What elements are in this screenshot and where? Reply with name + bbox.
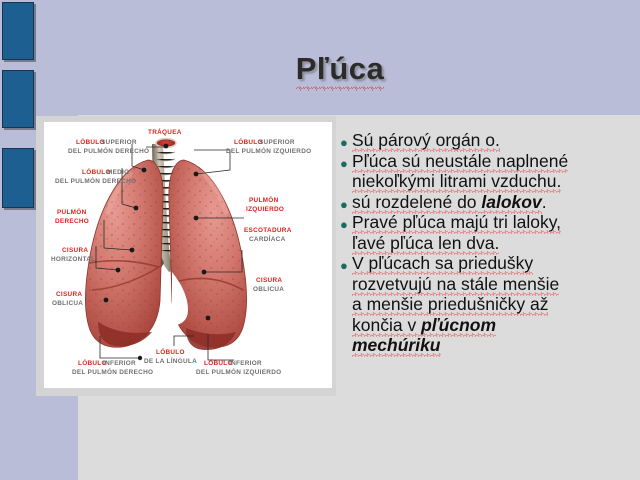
label-lobulo-medio-2: MEDIO	[107, 169, 129, 176]
slide-canvas: Pľúca	[0, 0, 640, 480]
label-lobulo-inf-izq-3: DEL PULMÓN IZQUIERDO	[196, 367, 281, 376]
slide-title-text: Pľúca	[296, 51, 385, 86]
lungs-illustration-svg: TRÁQUEA LÓBULO SUPERIOR DEL PULMÓN DEREC…	[44, 122, 332, 388]
label-lobulo-medio-3: DEL PULMÓN DERECHO	[55, 176, 136, 185]
bullet-dot-icon: ●	[340, 201, 352, 209]
list-item[interactable]: ● Sú párový orgán o.	[340, 130, 636, 151]
label-lobulo-lingula: LÓBULO	[156, 347, 185, 356]
label-cisura-oblicua-left: CISURA	[56, 291, 82, 298]
bullet-line: Sú párový orgán o.	[352, 130, 500, 152]
page-title: Pľúca	[296, 50, 385, 88]
slide-title-container: Pľúca	[190, 50, 490, 94]
bullet-text-2: Pľúca sú neustále naplnené niekoľkými li…	[352, 151, 636, 192]
label-pulmon-izquierdo: PULMÓN	[249, 195, 279, 204]
bullet-line: .	[542, 192, 547, 212]
label-traquea: TRÁQUEA	[148, 127, 182, 136]
bullet-dot-icon: ●	[340, 160, 352, 168]
bullet-line: niekoľkými litrami vzduchu.	[352, 171, 561, 193]
content-bullet-list: ● Sú párový orgán o. ● Pľúca sú neustále…	[340, 130, 636, 356]
label-lobulo-sup-der-3: DEL PULMÓN DERECHO	[68, 146, 149, 155]
list-item[interactable]: ● sú rozdelené do lalokov.	[340, 192, 636, 213]
bullet-dot-icon: ●	[340, 221, 352, 229]
label-lobulo-inf-izq-2: INFERIOR	[229, 360, 262, 367]
label-pulmon-izquierdo-2: IZQUIERDO	[246, 206, 284, 213]
bullet-emphasis: lalokov	[481, 192, 541, 214]
list-item[interactable]: ● Pľúca sú neustále naplnené niekoľkými …	[340, 151, 636, 192]
lungs-diagram-image: TRÁQUEA LÓBULO SUPERIOR DEL PULMÓN DEREC…	[44, 122, 332, 388]
label-escotadura-2: CARDÍACA	[249, 234, 286, 243]
label-cisura-horizontal: CISURA	[62, 247, 88, 254]
label-pulmon-derecho-2: DERECHO	[55, 218, 89, 225]
label-cisura-horizontal-2: HORIZONTAL	[51, 256, 95, 263]
bullet-line: sú rozdelené do	[352, 192, 481, 214]
label-lobulo-sup-izq-2: SUPERIOR	[259, 139, 295, 146]
left-accent-box-2	[2, 70, 34, 128]
bullet-text-5: V pľúcach sa priedušky rozvetvujú na stá…	[352, 253, 636, 356]
label-cisura-oblicua-right-2: OBLICUA	[253, 286, 284, 293]
bullet-emphasis: pľúcnom	[421, 315, 496, 337]
label-lobulo-inf-der-2: INFERIOR	[103, 360, 136, 367]
label-lobulo-inf-der-3: DEL PULMÓN DERECHO	[72, 367, 153, 376]
bullet-dot-icon: ●	[340, 262, 352, 270]
label-cisura-oblicua-left-2: OBLICUA	[52, 300, 83, 307]
label-lobulo-lingula-2: DE LA LÍNGULA	[144, 356, 197, 365]
spellcheck-underline-icon	[296, 86, 385, 91]
bullet-line: Pravé pľúca majú tri laloky,	[352, 212, 561, 234]
list-item[interactable]: ● Pravé pľúca majú tri laloky, ľavé pľúc…	[340, 212, 636, 253]
bullet-dot-icon: ●	[340, 139, 352, 147]
label-pulmon-derecho: PULMÓN	[57, 207, 87, 216]
left-accent-box-1	[2, 2, 34, 60]
list-item[interactable]: ● V pľúcach sa priedušky rozvetvujú na s…	[340, 253, 636, 356]
bullet-line: rozvetvujú na stále menšie	[352, 274, 559, 296]
left-accent-box-3	[2, 148, 34, 208]
bullet-line: ľavé pľúca len dva.	[352, 233, 499, 255]
label-cisura-oblicua-right: CISURA	[256, 277, 282, 284]
label-lobulo-sup-izq-3: DEL PULMÓN IZQUIERDO	[226, 146, 311, 155]
bullet-line: a menšie priedušničky až	[352, 294, 548, 316]
label-lobulo-sup-der-2: SUPERIOR	[101, 139, 137, 146]
bullet-emphasis: mechúriku	[352, 335, 441, 357]
bullet-line: V pľúcach sa priedušky	[352, 253, 533, 275]
bullet-text-1: Sú párový orgán o.	[352, 130, 636, 151]
bullet-line: Pľúca sú neustále naplnené	[352, 151, 568, 173]
label-escotadura: ESCOTADURA	[244, 227, 292, 234]
bullet-line: končia v	[352, 315, 421, 337]
bullet-text-3: sú rozdelené do lalokov.	[352, 192, 636, 213]
bullet-text-4: Pravé pľúca majú tri laloky, ľavé pľúca …	[352, 212, 636, 253]
